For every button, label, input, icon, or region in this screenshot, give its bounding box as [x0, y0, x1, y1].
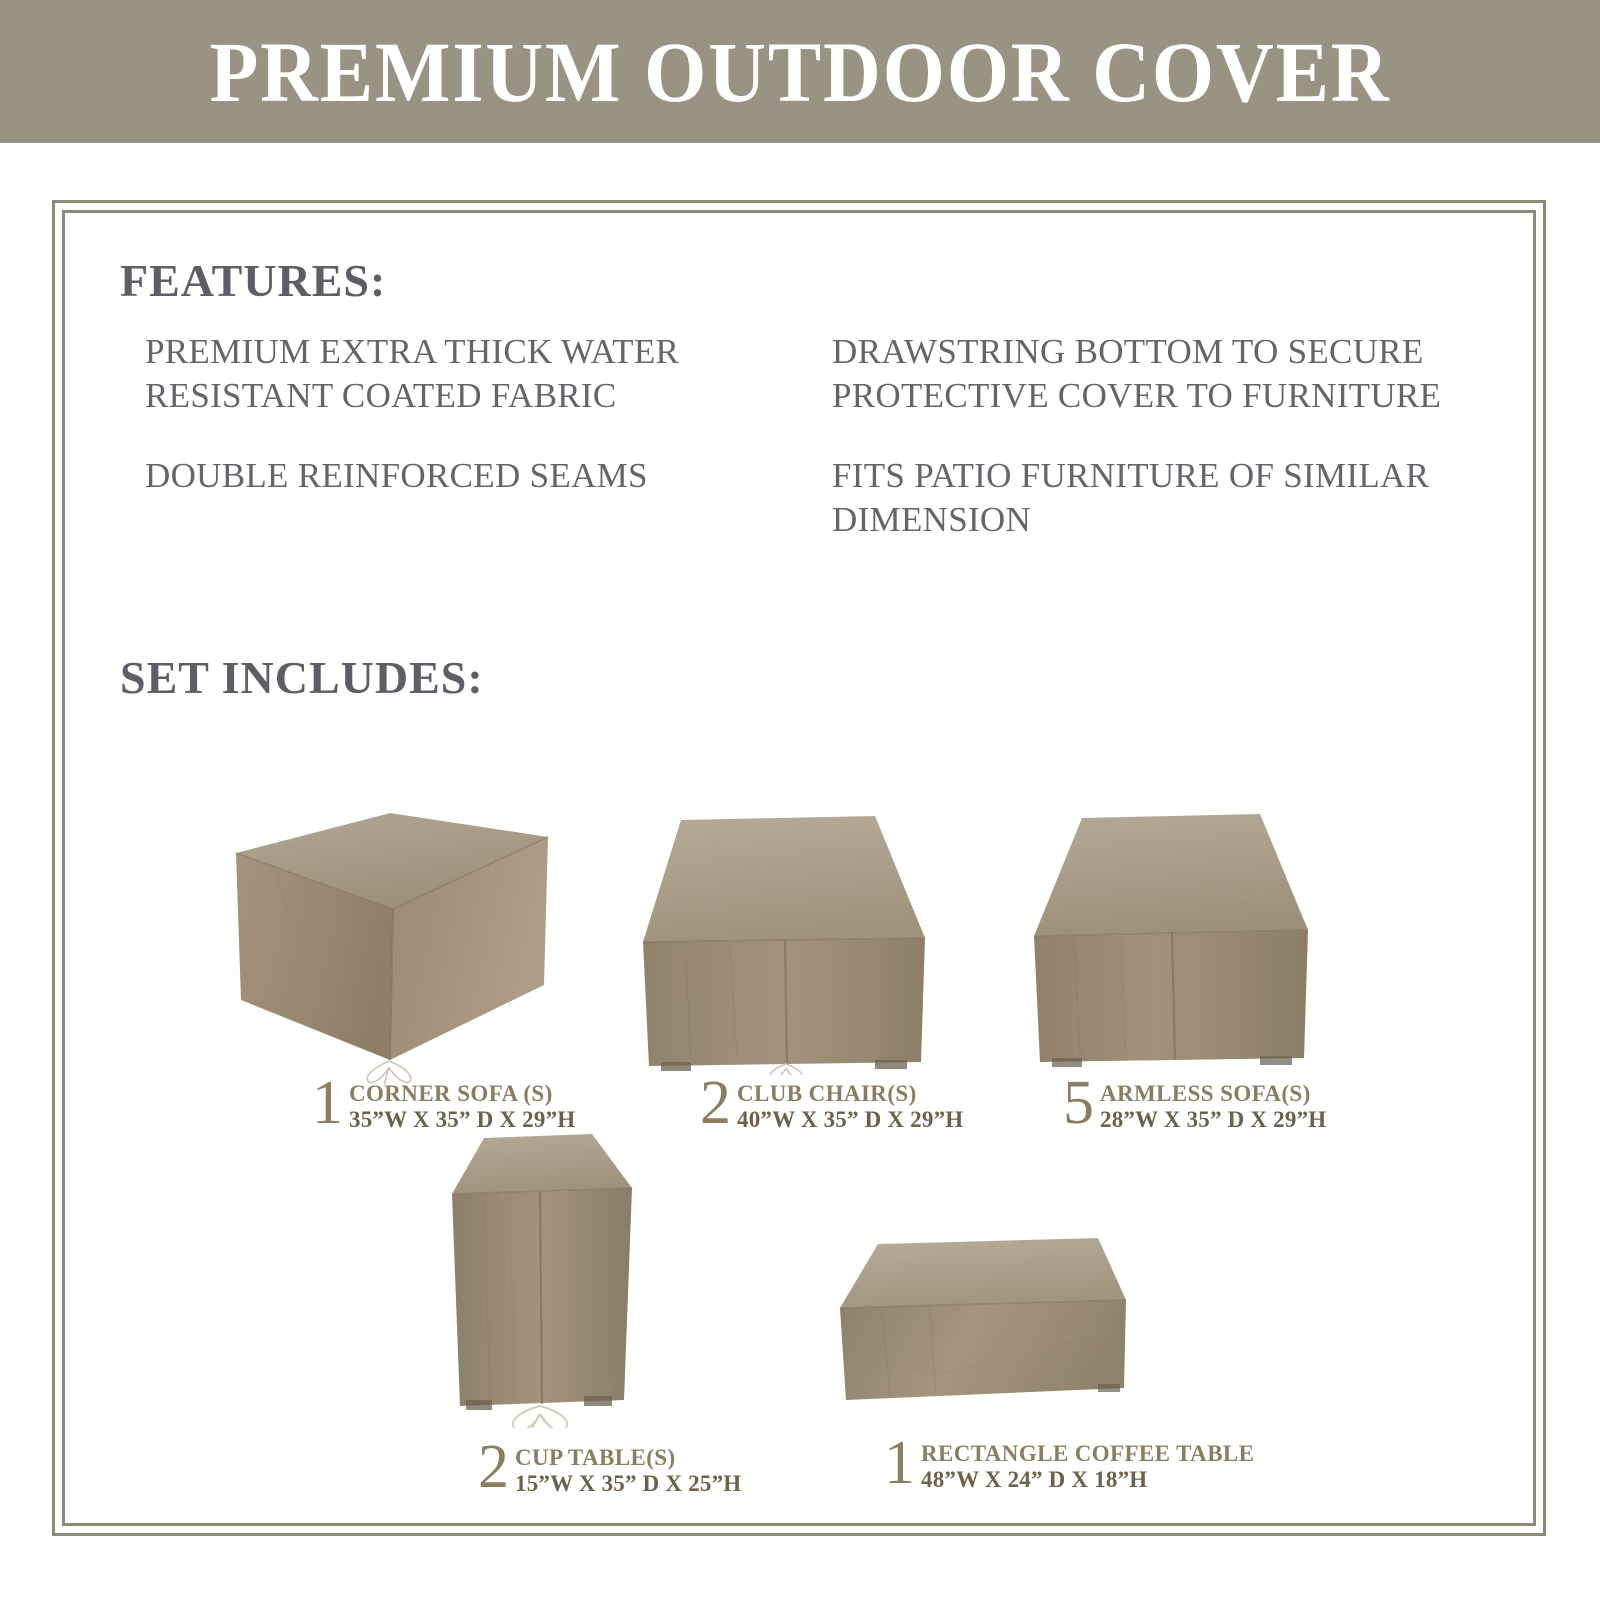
- product-image-armless-sofa: [1012, 790, 1322, 1070]
- product-name: CUP TABLE(S): [515, 1445, 676, 1470]
- product-dimensions: 28”W X 35” D X 29”H: [1100, 1107, 1326, 1132]
- product-image-cup-table: [432, 1128, 652, 1428]
- furniture-cover-armless-sofa-icon: [1012, 790, 1322, 1070]
- product-name: CLUB CHAIR(S): [737, 1081, 917, 1106]
- product-dimensions: 40”W X 35” D X 29”H: [737, 1107, 963, 1132]
- set-includes-product-grid: 1 CORNER SOFA (S) 35”W X 35” D X 29”H: [0, 0, 1600, 1600]
- furniture-cover-rectangle-coffee-table-icon: [810, 1228, 1130, 1428]
- product-image-rectangle-coffee-table: [810, 1228, 1130, 1428]
- product-image-club-chair: [625, 790, 945, 1075]
- product-quantity: 2: [700, 1078, 731, 1129]
- product-dimensions: 48”W X 24” D X 18”H: [921, 1467, 1147, 1492]
- product-label-rectangle-coffee-table: 1 RECTANGLE COFFEE TABLE 48”W X 24” D X …: [884, 1438, 1254, 1493]
- product-quantity: 1: [884, 1438, 915, 1489]
- product-quantity: 1: [312, 1078, 343, 1129]
- product-image-corner-sofa: [218, 785, 558, 1085]
- product-label-club-chair: 2 CLUB CHAIR(S) 40”W X 35” D X 29”H: [700, 1078, 963, 1133]
- product-label-corner-sofa: 1 CORNER SOFA (S) 35”W X 35” D X 29”H: [312, 1078, 575, 1133]
- product-label-armless-sofa: 5 ARMLESS SOFA(S) 28”W X 35” D X 29”H: [1063, 1078, 1326, 1133]
- product-quantity: 2: [478, 1442, 509, 1493]
- product-name: CORNER SOFA (S): [349, 1081, 553, 1106]
- product-quantity: 5: [1063, 1078, 1094, 1129]
- product-name: RECTANGLE COFFEE TABLE: [921, 1441, 1254, 1466]
- furniture-cover-corner-sofa-icon: [218, 785, 558, 1085]
- furniture-cover-cup-table-icon: [432, 1128, 652, 1428]
- product-label-cup-table: 2 CUP TABLE(S) 15”W X 35” D X 25”H: [478, 1442, 741, 1497]
- furniture-cover-club-chair-icon: [625, 790, 945, 1075]
- product-name: ARMLESS SOFA(S): [1100, 1081, 1311, 1106]
- product-dimensions: 15”W X 35” D X 25”H: [515, 1471, 741, 1496]
